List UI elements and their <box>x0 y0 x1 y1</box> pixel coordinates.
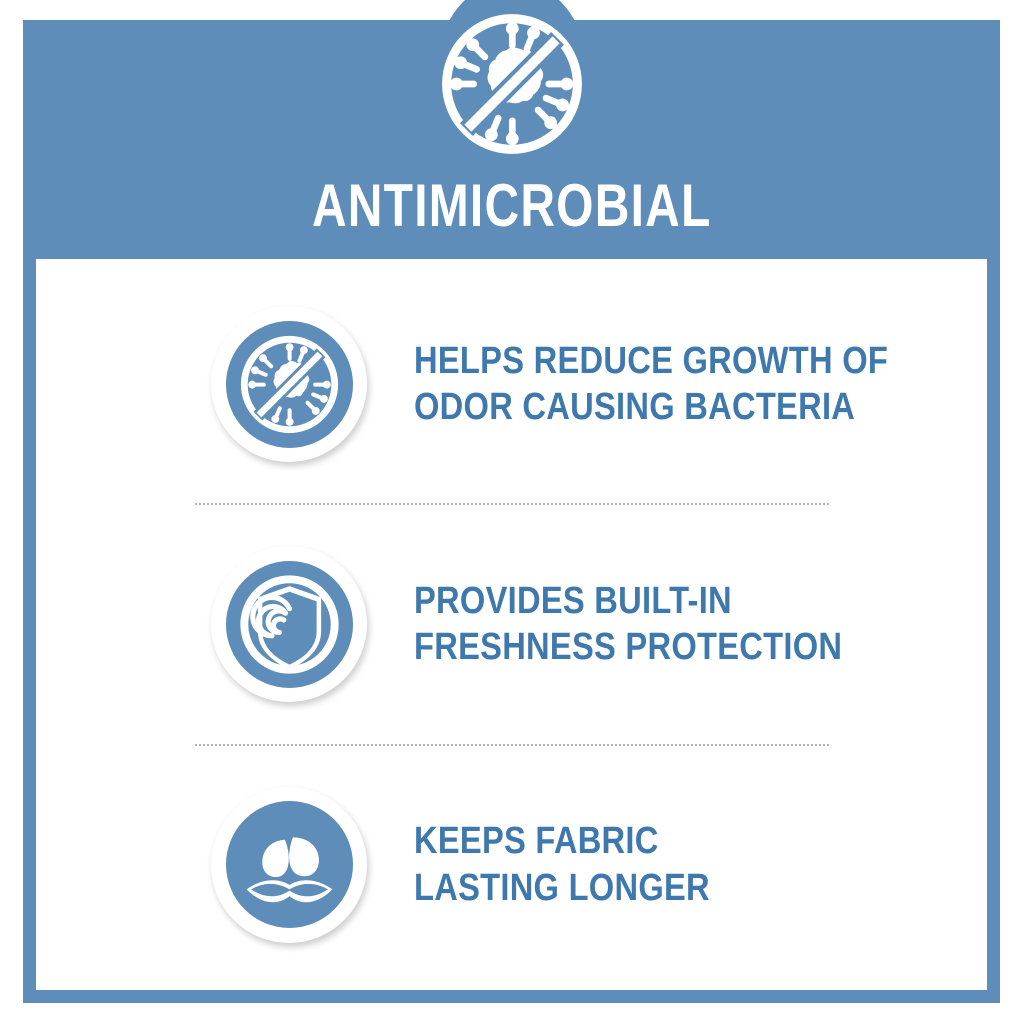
virus-blocked-icon <box>226 321 353 448</box>
feature-badge <box>211 306 367 462</box>
feature-text-line: PROVIDES BUILT-IN <box>414 578 842 624</box>
page-title: ANTIMICROBIAL <box>312 176 712 236</box>
feature-text-line: HELPS REDUCE GROWTH OF <box>414 338 888 384</box>
feature-text: PROVIDES BUILT-IN FRESHNESS PROTECTION <box>414 578 842 671</box>
feature-text-line: ODOR CAUSING BACTERIA <box>414 384 888 430</box>
feature-row: KEEPS FABRIC LASTING LONGER <box>36 746 987 984</box>
feature-badge <box>211 787 367 943</box>
feature-row: PROVIDES BUILT-IN FRESHNESS PROTECTION <box>36 505 987 743</box>
header: ANTIMICROBIAL <box>23 20 1000 259</box>
feature-badge <box>211 546 367 702</box>
features-card: HELPS REDUCE GROWTH OF ODOR CAUSING BACT… <box>36 259 987 990</box>
blue-frame: ANTIMICROBIAL <box>23 20 1000 1003</box>
feature-text-line: FRESHNESS PROTECTION <box>414 624 842 670</box>
feature-text: KEEPS FABRIC LASTING LONGER <box>414 818 710 911</box>
feature-row: HELPS REDUCE GROWTH OF ODOR CAUSING BACT… <box>36 265 987 503</box>
leaves-icon <box>226 801 353 928</box>
feature-text: HELPS REDUCE GROWTH OF ODOR CAUSING BACT… <box>414 338 888 431</box>
antimicrobial-infographic: ANTIMICROBIAL <box>0 0 1024 1024</box>
divider <box>195 503 829 505</box>
feature-text-line: KEEPS FABRIC <box>414 818 710 864</box>
virus-blocked-icon <box>436 8 588 160</box>
divider <box>195 744 829 746</box>
feature-text-line: LASTING LONGER <box>414 865 710 911</box>
shield-swirl-icon <box>226 561 353 688</box>
